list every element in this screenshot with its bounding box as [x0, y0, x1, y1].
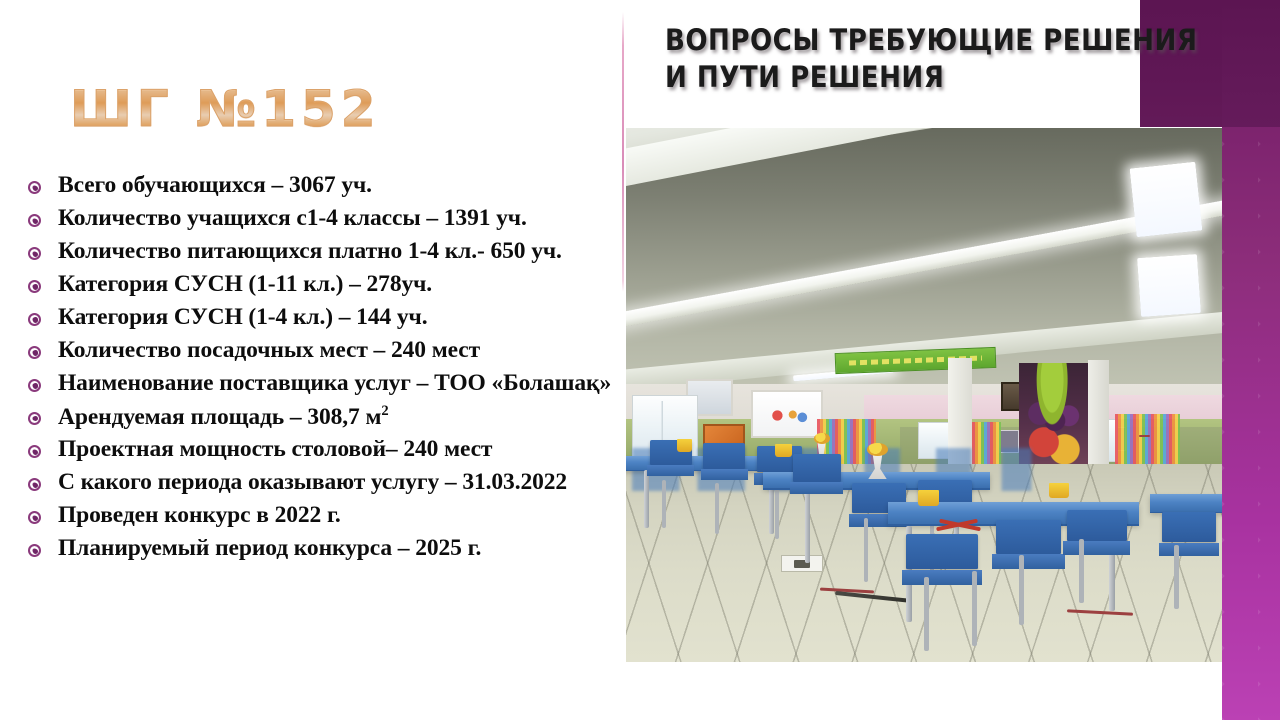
chair-leg — [1174, 545, 1179, 609]
flower — [814, 433, 829, 444]
list-item: Категория СУСН (1-4 кл.) – 144 уч. — [14, 304, 626, 332]
list-item-label: Проектная мощность столовой– 240 мест — [58, 436, 492, 462]
presentation-slide: ШГ №152 ВОПРОСЫ ТРЕБУЮЩИЕ РЕШЕНИЯ И ПУТИ… — [0, 0, 1280, 720]
list-item: Всего обучающихся – 3067 уч. — [14, 172, 626, 200]
chair — [703, 443, 745, 469]
chair-leg — [775, 486, 779, 539]
bullet-marker-icon — [28, 181, 41, 194]
yellow-cup — [677, 439, 692, 451]
bullet-list: Всего обучающихся – 3067 уч. Количество … — [14, 172, 626, 568]
list-item: Количество питающихся платно 1-4 кл.- 65… — [14, 238, 626, 266]
chair-foreground — [996, 520, 1062, 553]
bullet-marker-icon — [28, 214, 41, 227]
list-item-label: Количество посадочных мест – 240 мест — [58, 337, 480, 363]
list-item-label: Наименование поставщика услуг – ТОО «Бол… — [58, 370, 611, 396]
bullet-marker-icon — [28, 346, 41, 359]
list-item: Планируемый период конкурса – 2025 г. — [14, 535, 626, 563]
list-item-label: Количество учащихся с1-4 классы – 1391 у… — [58, 205, 527, 231]
ceiling-light-fixture — [1137, 254, 1201, 317]
chair-leg — [715, 483, 719, 534]
list-item-label: Категория СУСН (1-4 кл.) – 144 уч. — [58, 304, 427, 330]
chair — [1162, 512, 1216, 542]
list-item-label: С какого периода оказывают услугу – 31.0… — [58, 469, 567, 495]
list-item-label: Категория СУСН (1-11 кл.) – 278уч. — [58, 271, 432, 297]
chair — [793, 454, 841, 482]
list-item: Количество учащихся с1-4 классы – 1391 у… — [14, 205, 626, 233]
top-right-band-overlap — [1222, 0, 1280, 127]
list-item: Проведен конкурс в 2022 г. — [14, 502, 626, 530]
yellow-cup — [1049, 483, 1069, 498]
list-item: С какого периода оказывают услугу – 31.0… — [14, 469, 626, 497]
bullet-marker-icon — [28, 544, 41, 557]
list-item: Категория СУСН (1-11 кл.) – 278уч. — [14, 271, 626, 299]
bullet-marker-icon — [28, 445, 41, 458]
chair-leg — [1079, 539, 1084, 603]
bullet-marker-icon — [28, 412, 41, 425]
chair-leg — [924, 577, 929, 652]
slide-header-title: ВОПРОСЫ ТРЕБУЮЩИЕ РЕШЕНИЯ И ПУТИ РЕШЕНИЯ — [665, 22, 1225, 95]
wall-poster — [751, 390, 823, 438]
photo-content — [626, 128, 1222, 662]
bullet-marker-icon — [28, 511, 41, 524]
list-item-label: Планируемый период конкурса – 2025 г. — [58, 535, 481, 561]
list-item-label: Количество питающихся платно 1-4 кл.- 65… — [58, 238, 562, 264]
slide-title: ШГ №152 — [70, 84, 381, 134]
floor-marking — [1139, 435, 1151, 437]
bullet-marker-icon — [28, 247, 41, 260]
bullet-marker-icon — [28, 379, 41, 392]
chair-foreground — [1067, 510, 1127, 541]
ceiling-light-fixture — [1129, 162, 1201, 238]
bullet-marker-icon — [28, 313, 41, 326]
chair-leg — [1019, 555, 1024, 624]
chair-leg — [864, 518, 868, 582]
chair-leg — [972, 571, 977, 646]
chair-foreground — [906, 534, 978, 569]
floor-access-plate — [781, 555, 823, 572]
list-item-label: Проведен конкурс в 2022 г. — [58, 502, 341, 528]
bullet-marker-icon — [28, 280, 41, 293]
list-item-label: Арендуемая площадь – 308,7 м — [58, 404, 381, 430]
table-leg — [644, 470, 649, 529]
flower — [867, 443, 887, 456]
superscript-square: 2 — [381, 403, 388, 419]
chair-leg — [662, 480, 666, 528]
list-item: Проектная мощность столовой– 240 мест — [14, 436, 626, 464]
dining-table — [1150, 494, 1222, 512]
bullet-marker-icon — [28, 478, 41, 491]
yellow-cup — [918, 490, 939, 506]
list-item-label: Всего обучающихся – 3067 уч. — [58, 172, 372, 198]
list-item: Наименование поставщика услуг – ТОО «Бол… — [14, 370, 626, 398]
list-item: Количество посадочных мест – 240 мест — [14, 337, 626, 365]
list-item-rented-area: Арендуемая площадь – 308,7 м2 — [14, 403, 626, 432]
yellow-cup — [775, 444, 792, 457]
cafeteria-photo — [626, 128, 1222, 662]
table-leg — [805, 488, 810, 563]
